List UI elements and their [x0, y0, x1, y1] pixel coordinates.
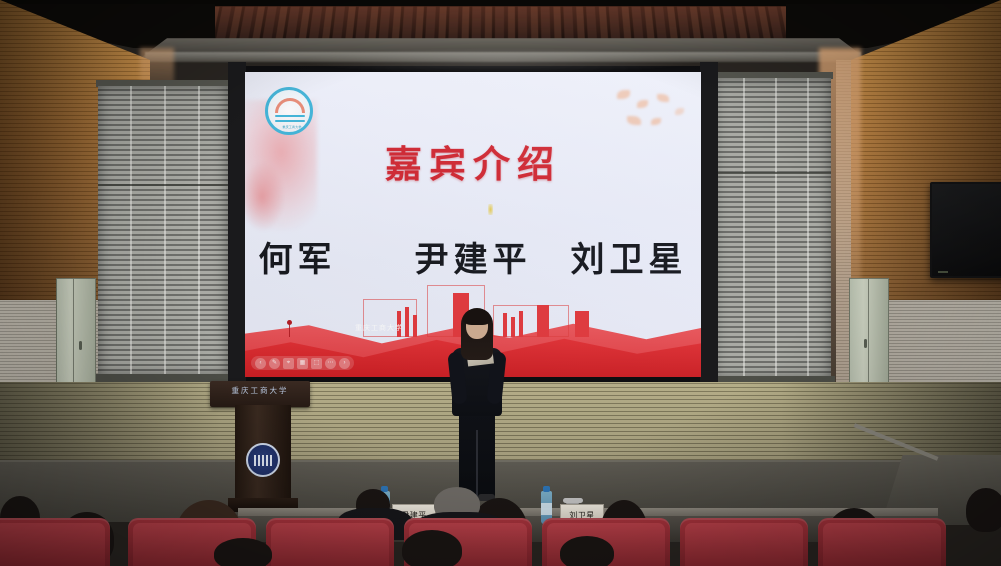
- blind-seam: [807, 78, 809, 378]
- building-bar: [511, 317, 515, 337]
- auditorium-scene: 重庆工商大学 嘉宾介绍 何军 尹建平 刘卫星 重庆工商大学 ‹ ✎ ⌖ ▦ ⬚ …: [0, 0, 1001, 566]
- door-handle[interactable]: [79, 341, 82, 350]
- display-power-led-icon: [938, 271, 948, 273]
- audience-head-front: [402, 530, 462, 566]
- slide-university-name: 重庆工商大学: [355, 323, 403, 333]
- petal-icon: [651, 118, 661, 125]
- screen-mount-right: [700, 62, 718, 392]
- slide-title: 嘉宾介绍: [245, 134, 701, 188]
- slide-sparkle-accent: [488, 204, 493, 215]
- petal-icon: [637, 100, 648, 108]
- audience-head-front: [560, 536, 614, 566]
- building-bar: [413, 315, 417, 337]
- logo-bar-1: [275, 115, 305, 117]
- previous-slide-icon[interactable]: ‹: [255, 358, 266, 369]
- blind-seam: [130, 86, 132, 376]
- wall-mounted-display[interactable]: [930, 182, 1001, 278]
- laser-pointer-line: [289, 323, 290, 337]
- presenter-leg-gap: [476, 430, 478, 498]
- next-slide-icon[interactable]: ›: [339, 358, 350, 369]
- blind-seam: [164, 86, 166, 376]
- window-blinds-right[interactable]: [713, 78, 831, 378]
- presenter-hair-fringe: [463, 309, 491, 325]
- building-bar: [503, 313, 507, 337]
- pointer-icon[interactable]: ⌖: [283, 358, 294, 369]
- petal-icon: [627, 116, 641, 125]
- audience-seat[interactable]: [680, 518, 808, 566]
- audience-seat[interactable]: [0, 518, 110, 566]
- window-blinds-left[interactable]: [98, 86, 228, 376]
- more-options-icon[interactable]: ⋯: [325, 358, 336, 369]
- pen-icon[interactable]: ✎: [269, 358, 280, 369]
- audience-seat[interactable]: [818, 518, 946, 566]
- logo-bar-2: [275, 120, 305, 122]
- slide-grid-icon[interactable]: ▦: [297, 358, 308, 369]
- blind-seam: [775, 78, 777, 378]
- blind-seam: [743, 78, 745, 378]
- bottle-label: [541, 503, 552, 515]
- podium-top: 重庆工商大学: [210, 381, 310, 407]
- logo-arch-shape: [275, 98, 305, 113]
- building-block: [575, 311, 589, 337]
- zoom-icon[interactable]: ⬚: [311, 358, 322, 369]
- emblem-building-glyph: [254, 455, 272, 466]
- podium-university-text: 重庆工商大学: [210, 385, 310, 396]
- screen-mount-left: [228, 62, 246, 392]
- building-bar: [519, 311, 523, 337]
- seat-cushion: [685, 523, 803, 566]
- building-block: [537, 305, 549, 337]
- logo-caption: 重庆工商大学: [271, 125, 313, 129]
- building-bar: [405, 307, 409, 337]
- door-handle[interactable]: [864, 339, 867, 348]
- petal-icon: [657, 94, 669, 102]
- seat-cushion: [271, 523, 389, 566]
- university-emblem-icon: [246, 443, 280, 477]
- blind-crossbar: [713, 172, 831, 174]
- bottle-cap: [543, 486, 550, 492]
- slide-guest-names: 何军 尹建平 刘卫星: [245, 232, 701, 281]
- seat-cushion: [823, 523, 941, 566]
- audience-seat[interactable]: [266, 518, 394, 566]
- petal-icon: [617, 90, 630, 99]
- blind-seam: [198, 86, 200, 376]
- laser-pointer-dot-icon: [287, 320, 292, 325]
- ceiling-beam-shading: [150, 6, 860, 42]
- seat-cushion: [0, 523, 105, 566]
- blind-crossbar: [98, 184, 228, 186]
- organization-logo-icon: 重庆工商大学: [265, 87, 313, 135]
- ceiling-lip: [145, 52, 861, 62]
- audience-head: [966, 488, 1001, 532]
- presentation-toolbar[interactable]: ‹ ✎ ⌖ ▦ ⬚ ⋯ ›: [251, 356, 354, 370]
- audience-head-front: [214, 538, 272, 566]
- petal-icon: [675, 108, 684, 115]
